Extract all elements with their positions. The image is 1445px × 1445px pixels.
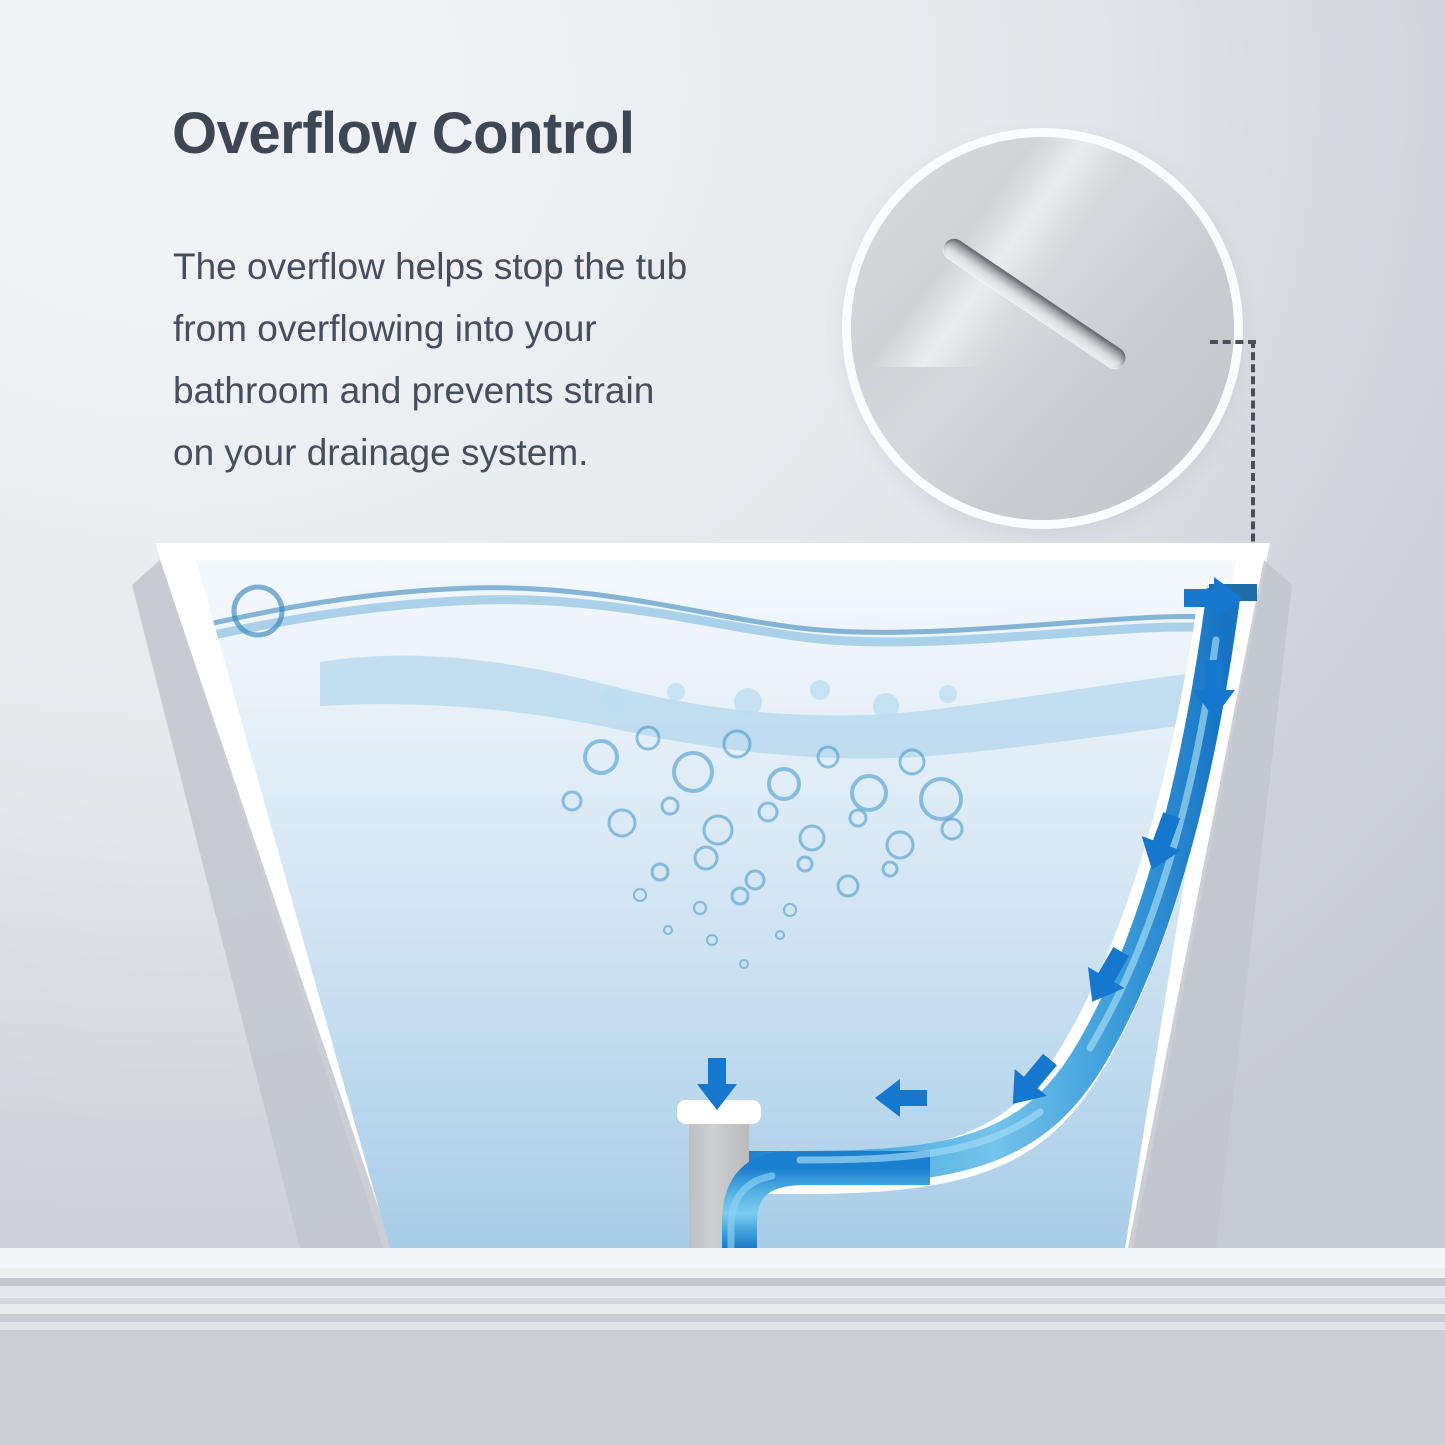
- infographic-canvas: Overflow Control The overflow helps stop…: [0, 0, 1445, 1445]
- bathtub-cross-section: [0, 0, 1445, 1445]
- bathroom-floor: [0, 1248, 1445, 1445]
